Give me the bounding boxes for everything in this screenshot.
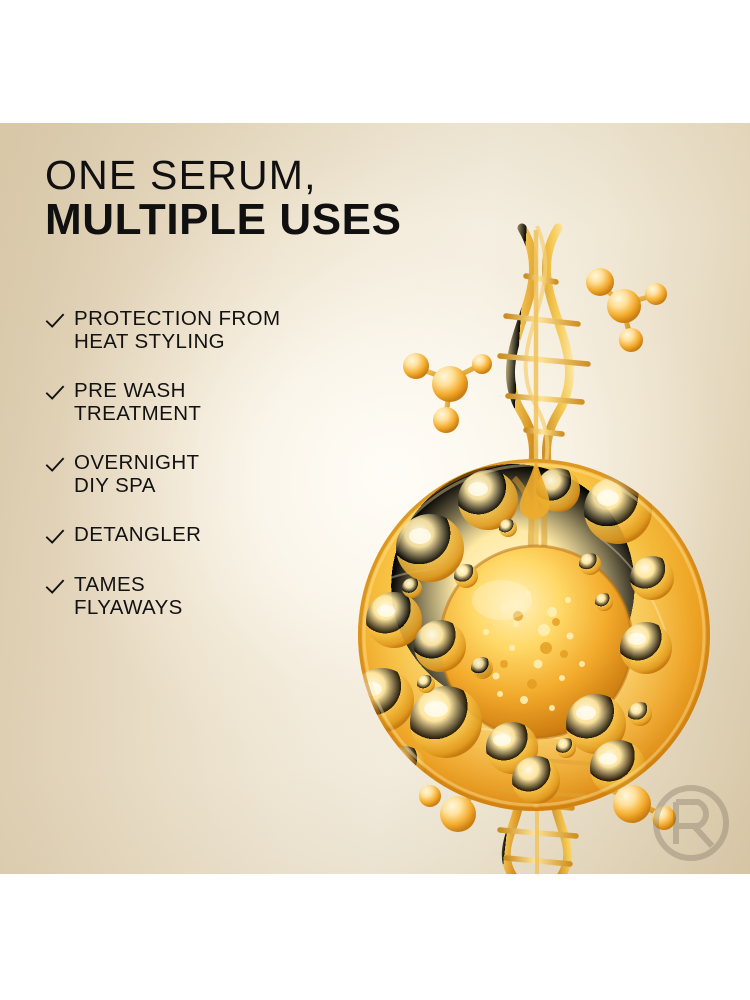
page-title: ONE SERUM, MULTIPLE USES <box>45 155 402 242</box>
checkmark-icon <box>44 526 66 548</box>
artwork-panel: ONE SERUM, MULTIPLE USES PROTECTION FROM… <box>0 123 750 874</box>
benefit-label: PROTECTION FROM HEAT STYLING <box>74 308 280 354</box>
checkmark-icon <box>44 454 66 476</box>
checkmark-icon <box>44 576 66 598</box>
list-item: TAMES FLYAWAYS <box>44 574 344 620</box>
benefit-label: PRE WASH TREATMENT <box>74 380 201 426</box>
product-marketing-image: ONE SERUM, MULTIPLE USES PROTECTION FROM… <box>0 0 750 1000</box>
list-item: OVERNIGHT DIY SPA <box>44 452 344 498</box>
benefit-label: DETANGLER <box>74 524 201 547</box>
molecule-cluster-upper-right <box>586 268 667 352</box>
serum-droplet <box>350 459 710 811</box>
registered-r-monogram-icon <box>648 780 734 866</box>
list-item: PRE WASH TREATMENT <box>44 380 344 426</box>
list-item: PROTECTION FROM HEAT STYLING <box>44 308 344 354</box>
benefits-list: PROTECTION FROM HEAT STYLING PRE WASH TR… <box>44 308 344 620</box>
checkmark-icon <box>44 310 66 332</box>
headline-line-1: ONE SERUM, <box>45 155 402 196</box>
benefit-label: OVERNIGHT DIY SPA <box>74 452 199 498</box>
list-item: DETANGLER <box>44 524 344 548</box>
headline-line-2: MULTIPLE USES <box>45 198 402 242</box>
checkmark-icon <box>44 382 66 404</box>
benefit-label: TAMES FLYAWAYS <box>74 574 183 620</box>
molecule-cluster-upper-left <box>403 353 492 433</box>
